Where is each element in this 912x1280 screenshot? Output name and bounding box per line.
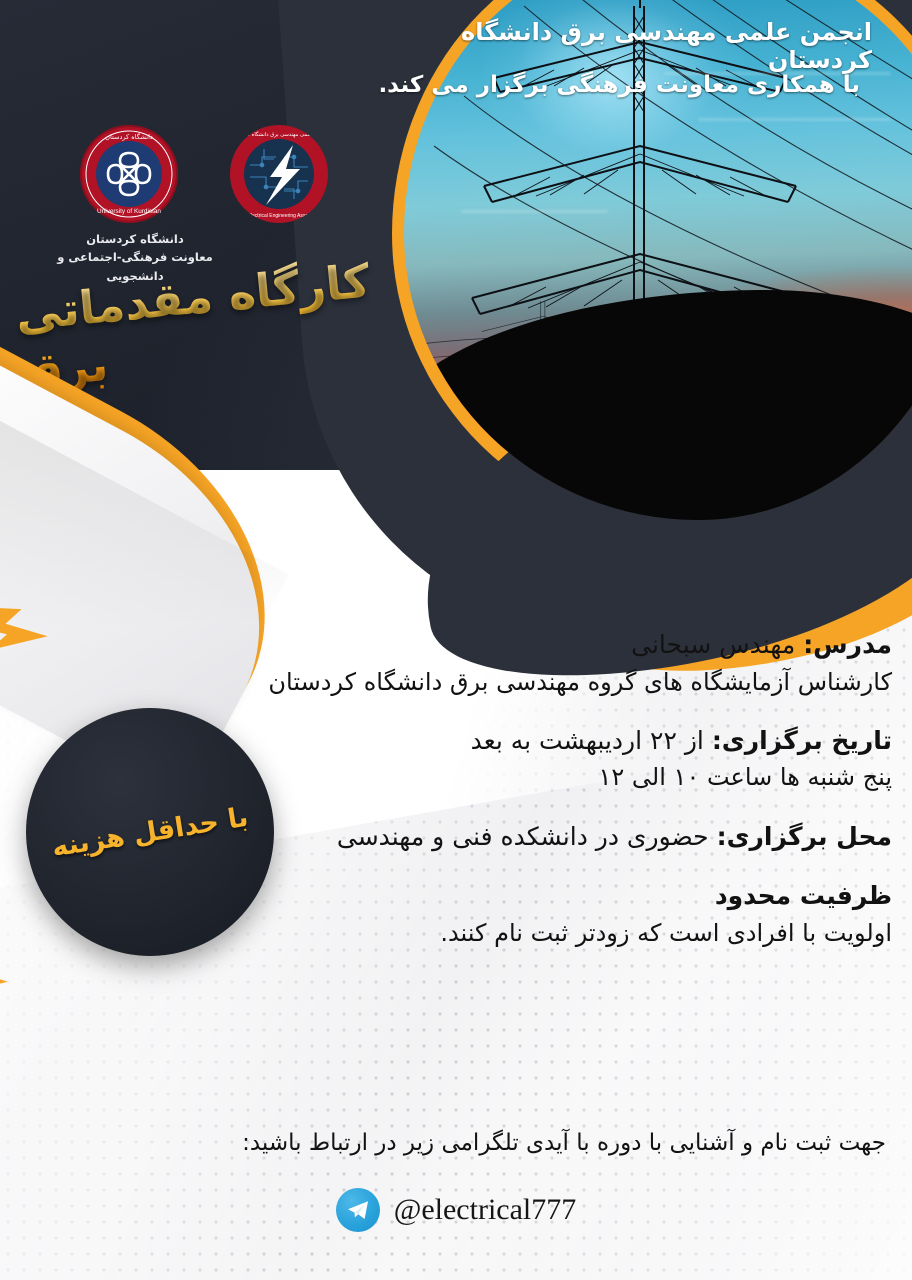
- poster-root: انجمن علمی مهندسی برق دانشگاه کردستان با…: [0, 0, 912, 1280]
- svg-text:UOK Electrical Engineering Ass: UOK Electrical Engineering Association: [235, 213, 322, 219]
- detail-place-value: حضوری در دانشکده فنی و مهندسی: [337, 822, 717, 851]
- detail-place: محل برگزاری: حضوری در دانشکده فنی و مهند…: [192, 818, 892, 856]
- details-section: مدرس: مهندس سبحانی کارشناس آزمایشگاه های…: [192, 626, 892, 973]
- detail-place-label: محل برگزاری:: [717, 822, 892, 851]
- header-line-2: با همکاری معاونت فرهنگی برگزار می کند.: [360, 72, 860, 98]
- detail-instructor: مدرس: مهندس سبحانی کارشناس آزمایشگاه های…: [192, 626, 892, 700]
- detail-date-label: تاریخ برگزاری:: [712, 726, 892, 755]
- logo-caption-line-1: دانشگاه کردستان: [30, 230, 240, 248]
- detail-instructor-label: مدرس:: [803, 630, 892, 659]
- detail-capacity: ظرفیت محدود اولویت با افرادی است که زودت…: [192, 877, 892, 951]
- telegram-contact-row[interactable]: @electrical777: [0, 1188, 912, 1232]
- electrical-engineering-association-logo: انجمن علمی مهندسی برق دانشگاه کردستان UO…: [230, 125, 328, 223]
- detail-capacity-label: ظرفیت محدود: [715, 881, 892, 910]
- detail-capacity-extra: اولویت با افرادی است که زودتر ثبت نام کن…: [192, 915, 892, 951]
- detail-instructor-extra: کارشناس آزمایشگاه های گروه مهندسی برق دا…: [192, 664, 892, 700]
- telegram-handle[interactable]: @electrical777: [394, 1193, 577, 1227]
- contact-instruction: جهت ثبت نام و آشنایی با دوره با آیدی تلگ…: [26, 1130, 886, 1156]
- header-line-1: انجمن علمی مهندسی برق دانشگاه کردستان: [352, 18, 872, 74]
- detail-date: تاریخ برگزاری: از ۲۲ اردیبهشت به بعد پنج…: [192, 722, 892, 796]
- telegram-icon[interactable]: [336, 1188, 380, 1232]
- detail-date-extra: پنج شنبه ها ساعت ۱۰ الی ۱۲: [192, 759, 892, 795]
- detail-date-value: از ۲۲ اردیبهشت به بعد: [471, 726, 712, 755]
- university-of-kurdistan-logo: University of Kurdistan دانشگاه کردستان: [80, 125, 178, 223]
- logo-row: University of Kurdistan دانشگاه کردستان …: [40, 125, 370, 225]
- svg-text:University of Kurdistan: University of Kurdistan: [97, 208, 161, 215]
- svg-text:دانشگاه کردستان: دانشگاه کردستان: [105, 133, 153, 141]
- svg-text:انجمن علمی مهندسی برق دانشگاه: انجمن علمی مهندسی برق دانشگاه کردستان: [231, 131, 327, 138]
- detail-instructor-value: مهندس سبحانی: [631, 630, 803, 659]
